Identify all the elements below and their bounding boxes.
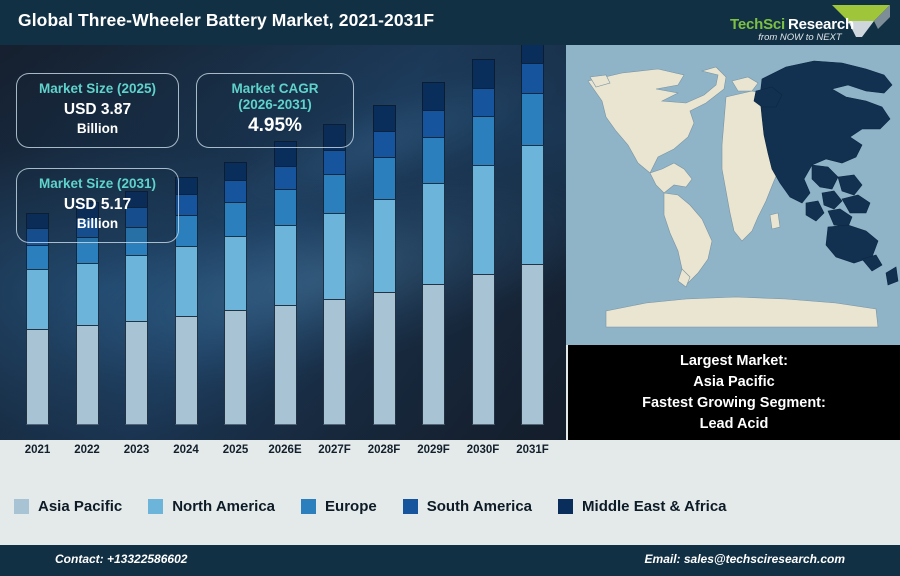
bar-segment-asia-pacific: [274, 305, 297, 425]
bar-segment-europe: [224, 202, 247, 235]
callout-line-3: Fastest Growing Segment:: [642, 393, 826, 413]
bar-column-2030F: [472, 59, 495, 425]
bar-segment-south-america: [274, 166, 297, 189]
logo-primary-text: TechSci: [730, 16, 785, 33]
legend-label: Europe: [325, 498, 377, 515]
bar-segment-north-america: [373, 199, 396, 292]
stat-card-title: Market Size (2025): [27, 81, 168, 97]
legend-label: South America: [427, 498, 532, 515]
x-axis-tick-2023: 2023: [109, 444, 165, 456]
bar-segment-asia-pacific: [323, 299, 346, 425]
stat-card-market-size-2031: Market Size (2031) USD 5.17 Billion: [16, 168, 179, 243]
callout-box: Largest Market: Asia Pacific Fastest Gro…: [568, 345, 900, 440]
bar-segment-europe: [373, 157, 396, 199]
stat-card-unit: Billion: [27, 215, 168, 233]
bar-segment-middle-east-africa: [373, 105, 396, 132]
bar-segment-europe: [274, 189, 297, 225]
bar-segment-europe: [472, 116, 495, 165]
chart-legend: Asia PacificNorth AmericaEuropeSouth Ame…: [0, 468, 900, 545]
infographic-root: Global Three-Wheeler Battery Market, 202…: [0, 0, 900, 576]
bar-segment-asia-pacific: [224, 310, 247, 425]
bar-segment-middle-east-africa: [472, 59, 495, 88]
x-axis-tick-2022: 2022: [59, 444, 115, 456]
world-map: [566, 45, 900, 345]
bar-segment-north-america: [323, 213, 346, 299]
bar-column-2026E: [274, 141, 297, 425]
bar-segment-south-america: [224, 180, 247, 202]
bar-segment-north-america: [472, 165, 495, 274]
bar-segment-north-america: [521, 145, 544, 264]
x-axis-tick-2021: 2021: [10, 444, 66, 456]
bar-segment-europe: [323, 174, 346, 213]
bar-segment-europe: [422, 137, 445, 183]
bar-segment-asia-pacific: [125, 321, 148, 426]
callout-line-1: Largest Market:: [680, 351, 788, 371]
bar-column-2025: [224, 162, 247, 425]
x-axis-tick-2025: 2025: [208, 444, 264, 456]
bar-column-2027F: [323, 124, 346, 425]
bar-column-2029F: [422, 82, 445, 425]
bar-segment-europe: [26, 245, 49, 269]
legend-swatch-icon: [558, 499, 573, 514]
stat-card-market-size-2025: Market Size (2025) USD 3.87 Billion: [16, 73, 179, 148]
bar-segment-south-america: [422, 110, 445, 137]
bar-segment-europe: [521, 93, 544, 146]
bar-segment-asia-pacific: [373, 292, 396, 425]
stat-card-title-line2: (2026-2031): [207, 97, 343, 113]
bar-segment-north-america: [26, 269, 49, 329]
footer-bar: Contact: +13322586602 Email: sales@techs…: [0, 545, 900, 576]
legend-item-middle-east-africa[interactable]: Middle East & Africa: [558, 498, 726, 515]
page-title: Global Three-Wheeler Battery Market, 202…: [18, 10, 434, 31]
legend-swatch-icon: [148, 499, 163, 514]
legend-label: North America: [172, 498, 275, 515]
bar-segment-asia-pacific: [422, 284, 445, 425]
bar-segment-north-america: [422, 183, 445, 284]
x-axis-tick-2030F: 2030F: [455, 444, 511, 456]
bar-segment-north-america: [274, 225, 297, 305]
world-map-svg: [566, 45, 900, 345]
legend-item-asia-pacific[interactable]: Asia Pacific: [14, 498, 122, 515]
legend-item-south-america[interactable]: South America: [403, 498, 532, 515]
stat-card-value: USD 3.87: [27, 100, 168, 120]
stat-card-market-cagr: Market CAGR (2026-2031) 4.95%: [196, 73, 354, 148]
bar-segment-south-america: [521, 63, 544, 93]
bar-segment-asia-pacific: [521, 264, 544, 425]
legend-swatch-icon: [301, 499, 316, 514]
stat-card-value: 4.95%: [207, 114, 343, 138]
x-axis-tick-2031F: 2031F: [505, 444, 561, 456]
bar-column-2028F: [373, 105, 396, 425]
stat-card-title: Market Size (2031): [27, 176, 168, 192]
bar-segment-middle-east-africa: [224, 162, 247, 180]
chart-x-axis: 202120222023202420252026E2027F2028F2029F…: [0, 440, 566, 468]
logo-svg: TechSci Research from NOW to NEXT: [722, 3, 894, 43]
logo-tagline-text: from NOW to NEXT: [758, 32, 843, 43]
bar-segment-south-america: [472, 88, 495, 117]
x-axis-tick-2024: 2024: [158, 444, 214, 456]
legend-label: Middle East & Africa: [582, 498, 726, 515]
bar-segment-north-america: [125, 255, 148, 321]
x-axis-tick-2029F: 2029F: [406, 444, 462, 456]
bar-segment-south-america: [373, 131, 396, 157]
stat-card-unit: Billion: [27, 120, 168, 138]
bar-column-2031F: [521, 45, 544, 425]
legend-item-north-america[interactable]: North America: [148, 498, 275, 515]
legend-swatch-icon: [403, 499, 418, 514]
x-axis-tick-2028F: 2028F: [356, 444, 412, 456]
bar-segment-middle-east-africa: [422, 82, 445, 110]
footer-email: Email: sales@techsciresearch.com: [645, 552, 845, 566]
x-axis-tick-2026E: 2026E: [257, 444, 313, 456]
legend-label: Asia Pacific: [38, 498, 122, 515]
header-bar: Global Three-Wheeler Battery Market, 202…: [0, 0, 900, 45]
callout-line-2: Asia Pacific: [693, 372, 774, 392]
techsci-research-logo: TechSci Research from NOW to NEXT: [722, 3, 894, 43]
footer-contact: Contact: +13322586602: [55, 552, 187, 566]
bar-segment-asia-pacific: [26, 329, 49, 425]
bar-segment-north-america: [175, 246, 198, 316]
legend-swatch-icon: [14, 499, 29, 514]
bar-segment-north-america: [224, 236, 247, 311]
logo-secondary-text: Research: [788, 16, 854, 33]
stat-card-value: USD 5.17: [27, 195, 168, 215]
bar-segment-south-america: [323, 150, 346, 174]
bar-segment-north-america: [76, 263, 99, 325]
legend-item-europe[interactable]: Europe: [301, 498, 377, 515]
x-axis-tick-2027F: 2027F: [307, 444, 363, 456]
bar-column-2021: [26, 213, 49, 425]
bar-segment-asia-pacific: [175, 316, 198, 425]
bar-segment-asia-pacific: [76, 325, 99, 425]
bar-segment-asia-pacific: [472, 274, 495, 425]
callout-line-4: Lead Acid: [700, 414, 769, 434]
stat-card-title-line1: Market CAGR: [207, 81, 343, 97]
bar-segment-middle-east-africa: [521, 45, 544, 63]
